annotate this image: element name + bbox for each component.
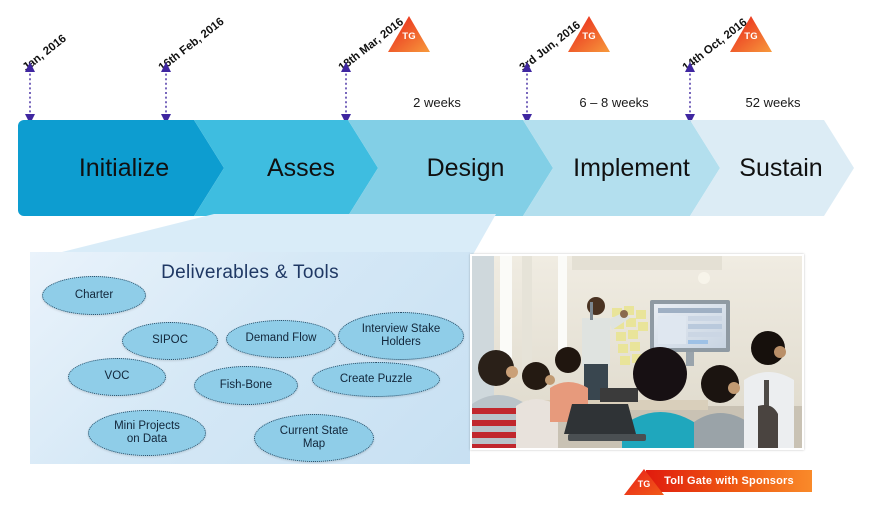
workshop-photo-image [472, 256, 802, 448]
phase-label-2: Asses [267, 154, 335, 183]
tollgate-triangle-3: TG [728, 14, 774, 54]
phase-2[interactable]: Asses [224, 120, 378, 216]
phase-5[interactable]: Sustain [708, 120, 854, 216]
milestone-arrow-5 [684, 62, 696, 124]
milestone-arrow-1 [24, 62, 36, 124]
tollgate-badge-3: TG [728, 31, 774, 42]
deliverable-create-puzzle[interactable]: Create Puzzle [312, 362, 440, 397]
phase-label-1: Initialize [79, 154, 169, 183]
legend-badge: TG [622, 479, 666, 489]
duration-label-3: 52 weeks [718, 95, 828, 110]
milestone-arrow-2 [160, 62, 172, 124]
legend-tollgate: Toll Gate with Sponsors TG [622, 468, 812, 496]
tollgate-badge-2: TG [566, 31, 612, 42]
deliverable-current-state-map[interactable]: Current State Map [254, 414, 374, 462]
deliverable-fish-bone[interactable]: Fish-Bone [194, 366, 298, 405]
phase-band: Initialize Asses Design Implement Sustai… [18, 120, 854, 216]
workshop-photo [470, 254, 804, 450]
deliverable-sipoc[interactable]: SIPOC [122, 322, 218, 360]
deliverables-panel: Deliverables & Tools Charter SIPOC Deman… [30, 252, 470, 464]
deliverable-mini-projects-on-data[interactable]: Mini Projects on Data [88, 410, 206, 456]
deliverable-voc[interactable]: VOC [68, 358, 166, 396]
tollgate-triangle-1: TG [386, 14, 432, 54]
deliverable-demand-flow[interactable]: Demand Flow [226, 320, 336, 358]
duration-label-2: 6 – 8 weeks [553, 95, 675, 110]
deliverable-charter[interactable]: Charter [42, 276, 146, 315]
milestone-arrow-4 [521, 62, 533, 124]
legend-triangle: TG [622, 468, 666, 496]
phase-3[interactable]: Design [378, 120, 553, 216]
legend-label: Toll Gate with Sponsors [664, 475, 794, 487]
milestone-arrow-3 [340, 62, 352, 124]
duration-label-1: 2 weeks [382, 95, 492, 110]
tollgate-triangle-2: TG [566, 14, 612, 54]
phase-label-4: Implement [573, 154, 690, 183]
tollgate-badge-1: TG [386, 31, 432, 42]
deliverable-interview-stake-holders[interactable]: Interview Stake Holders [338, 312, 464, 360]
legend-bar: Toll Gate with Sponsors [646, 470, 812, 492]
roadmap-diagram: Jan, 2016 16th Feb, 2016 18th Mar, 2016 … [0, 0, 872, 512]
phase-1[interactable]: Initialize [24, 120, 224, 216]
phase-label-5: Sustain [739, 154, 822, 183]
phase-4[interactable]: Implement [543, 120, 720, 216]
phase-label-3: Design [427, 154, 505, 183]
